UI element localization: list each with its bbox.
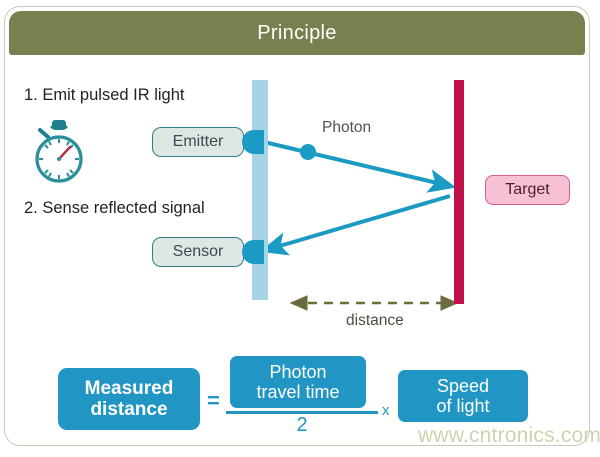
speed-line2: of light: [436, 396, 489, 416]
slide-root: Principle: [0, 0, 600, 457]
sensor-box: Sensor: [152, 237, 244, 267]
denominator-label: 2: [226, 414, 378, 437]
emitter-box: Emitter: [152, 127, 244, 157]
emitted-beam: [264, 142, 450, 186]
measured-distance-line2: distance: [90, 399, 167, 420]
photon-travel-time-box: Photon travel time: [230, 356, 366, 408]
photon-label: Photon: [322, 119, 371, 137]
page-title: Principle: [9, 11, 585, 55]
step-2-label: 2. Sense reflected signal: [24, 199, 205, 218]
step-1-label: 1. Emit pulsed IR light: [24, 86, 185, 105]
target-box: Target: [485, 175, 570, 205]
diagram-canvas: 1. Emit pulsed IR light 2. Sense reflect…: [10, 58, 584, 442]
speed-of-light-box: Speed of light: [398, 370, 528, 422]
numerator-line2: travel time: [256, 382, 339, 402]
measured-distance-box: Measured distance: [58, 368, 200, 430]
speed-line1: Speed: [437, 376, 489, 396]
emitter-lens-icon: [242, 130, 264, 154]
multiply-sign: x: [382, 402, 390, 419]
distance-label: distance: [346, 312, 404, 330]
stopwatch-icon: [28, 116, 90, 184]
photon-dot: [300, 144, 316, 160]
measured-distance-line1: Measured: [85, 378, 174, 399]
device-surface-bar: [252, 80, 268, 300]
header-bar: Principle: [9, 11, 585, 55]
site-watermark: www.cntronics.com: [418, 424, 600, 448]
numerator-line1: Photon: [269, 362, 326, 382]
equals-sign: =: [207, 388, 220, 414]
target-surface-bar: [454, 80, 464, 304]
sensor-lens-icon: [242, 240, 264, 264]
reflected-beam: [266, 196, 450, 250]
